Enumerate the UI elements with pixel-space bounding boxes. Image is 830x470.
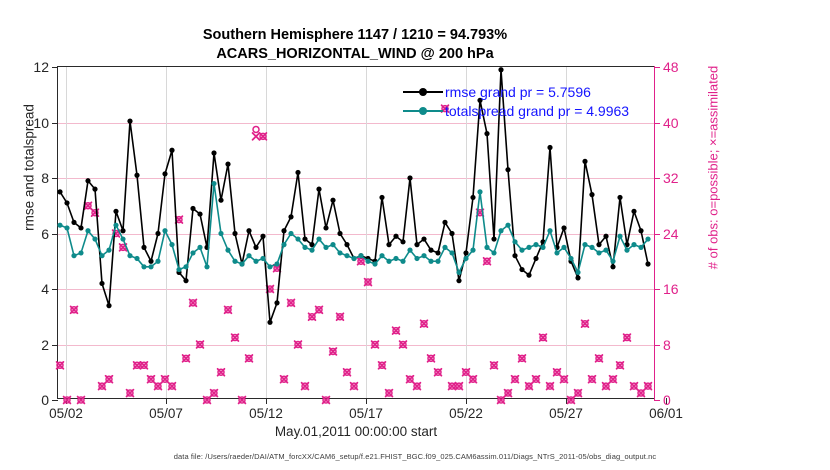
data-point <box>260 256 265 261</box>
y-tick-label-left: 6 <box>41 226 49 242</box>
data-point <box>519 267 524 272</box>
data-point <box>330 198 335 203</box>
data-point <box>78 250 83 255</box>
data-point <box>400 259 405 264</box>
data-point <box>547 228 552 233</box>
data-point <box>470 248 475 253</box>
data-point <box>162 228 167 233</box>
data-point <box>253 245 258 250</box>
data-point <box>134 256 139 261</box>
data-point <box>477 189 482 194</box>
data-point <box>309 248 314 253</box>
data-point <box>393 234 398 239</box>
data-point <box>414 256 419 261</box>
data-point <box>71 220 76 225</box>
data-point <box>78 225 83 230</box>
legend: rmse grand pr = 5.7596 totalspread grand… <box>399 79 651 123</box>
data-point <box>540 245 545 250</box>
chart-title: Southern Hemisphere 1147 / 1210 = 94.793… <box>0 26 710 64</box>
data-point <box>498 228 503 233</box>
data-point <box>484 245 489 250</box>
x-tick-label: 05/27 <box>549 406 583 421</box>
data-point <box>197 245 202 250</box>
data-point <box>449 231 454 236</box>
data-point <box>505 223 510 228</box>
data-point <box>113 223 118 228</box>
data-point <box>575 270 580 275</box>
data-point <box>442 220 447 225</box>
obs-possible-marker <box>253 126 259 132</box>
data-point <box>92 236 97 241</box>
data-point <box>113 209 118 214</box>
data-point <box>85 228 90 233</box>
data-point <box>379 253 384 258</box>
data-point <box>435 259 440 264</box>
data-point <box>225 162 230 167</box>
data-point <box>631 209 636 214</box>
data-point <box>120 228 125 233</box>
x-tick <box>666 398 667 404</box>
data-point <box>344 242 349 247</box>
data-point <box>295 236 300 241</box>
data-point <box>533 242 538 247</box>
data-point <box>561 245 566 250</box>
data-point <box>295 170 300 175</box>
data-point <box>554 250 559 255</box>
data-point <box>99 281 104 286</box>
data-point <box>393 256 398 261</box>
data-point <box>596 250 601 255</box>
data-point <box>526 245 531 250</box>
data-point <box>365 259 370 264</box>
data-point <box>372 261 377 266</box>
data-point <box>127 253 132 258</box>
data-point <box>603 234 608 239</box>
legend-item-rmse: rmse grand pr = 5.7596 <box>403 82 647 101</box>
x-axis-label: May.01,2011 00:00:00 start <box>57 424 655 439</box>
data-point <box>491 236 496 241</box>
data-point <box>204 264 209 269</box>
data-point <box>274 300 279 305</box>
data-point <box>414 242 419 247</box>
data-point <box>99 253 104 258</box>
data-point <box>344 253 349 258</box>
data-point <box>197 211 202 216</box>
y-tick-label-left: 4 <box>41 281 49 297</box>
data-point <box>246 228 251 233</box>
obs-assimilated-marker <box>253 133 260 140</box>
data-point <box>232 259 237 264</box>
data-point <box>239 261 244 266</box>
data-point <box>491 250 496 255</box>
data-point <box>106 248 111 253</box>
data-point <box>155 259 160 264</box>
data-point <box>190 250 195 255</box>
title-line-1: Southern Hemisphere 1147 / 1210 = 94.793… <box>0 26 710 45</box>
x-tick-label: 05/02 <box>49 406 83 421</box>
data-point <box>589 192 594 197</box>
data-point <box>71 253 76 258</box>
title-line-2: ACARS_HORIZONTAL_WIND @ 200 hPa <box>0 45 710 64</box>
data-point <box>288 231 293 236</box>
obs-markers <box>57 105 652 403</box>
data-point <box>120 236 125 241</box>
data-point <box>141 245 146 250</box>
data-point <box>92 187 97 192</box>
data-point <box>589 245 594 250</box>
x-tick-label: 05/17 <box>349 406 383 421</box>
data-point <box>421 253 426 258</box>
data-point <box>456 278 461 283</box>
data-point <box>246 253 251 258</box>
data-point <box>85 178 90 183</box>
data-point <box>64 200 69 205</box>
data-point <box>582 159 587 164</box>
data-point <box>225 248 230 253</box>
data-point <box>484 131 489 136</box>
x-tick-label: 05/12 <box>249 406 283 421</box>
data-point <box>421 236 426 241</box>
data-file-footer: data file: /Users/raeder/DAI/ATM_forcXX/… <box>0 452 830 461</box>
data-point <box>169 148 174 153</box>
data-point <box>260 234 265 239</box>
data-point <box>183 278 188 283</box>
y-axis-label-right: # of obs: o=possible; ×=assimilated <box>706 43 721 293</box>
data-point <box>148 264 153 269</box>
data-point <box>386 259 391 264</box>
data-point <box>638 228 643 233</box>
data-point <box>456 270 461 275</box>
data-point <box>281 228 286 233</box>
data-point <box>211 181 216 186</box>
data-point <box>134 173 139 178</box>
x-tick-label: 06/01 <box>649 406 683 421</box>
data-point <box>519 248 524 253</box>
data-point <box>498 67 503 72</box>
data-point <box>218 231 223 236</box>
data-point <box>253 259 258 264</box>
data-point <box>645 236 650 241</box>
data-point <box>379 195 384 200</box>
data-point <box>533 256 538 261</box>
data-point <box>183 264 188 269</box>
data-point <box>561 225 566 230</box>
data-point <box>610 264 615 269</box>
y-axis-label-left: rmse and totalspread <box>22 43 37 293</box>
x-tick-label: 05/07 <box>149 406 183 421</box>
data-point <box>435 250 440 255</box>
data-point <box>470 195 475 200</box>
data-point <box>645 261 650 266</box>
data-point <box>428 259 433 264</box>
data-point <box>148 259 153 264</box>
data-point <box>176 267 181 272</box>
data-point <box>57 223 62 228</box>
y-tick-label-right: 8 <box>663 337 671 353</box>
data-point <box>526 273 531 278</box>
legend-marker-rmse <box>403 86 443 98</box>
data-point <box>218 198 223 203</box>
data-point <box>463 250 468 255</box>
data-point <box>442 245 447 250</box>
data-point <box>624 248 629 253</box>
data-point <box>330 242 335 247</box>
data-point <box>512 239 517 244</box>
data-point <box>449 250 454 255</box>
data-point <box>400 239 405 244</box>
legend-label-totalspread: totalspread grand pr = 4.9963 <box>445 103 629 119</box>
x-tick-label: 05/22 <box>449 406 483 421</box>
y-tick-label-left: 0 <box>41 392 49 408</box>
plot-area: 02468101208162432404805/0205/0705/1205/1… <box>57 66 655 399</box>
y-tick-label-left: 8 <box>41 170 49 186</box>
data-point <box>232 231 237 236</box>
data-point <box>64 225 69 230</box>
data-point <box>267 264 272 269</box>
data-point <box>316 187 321 192</box>
data-point <box>316 236 321 241</box>
data-point <box>603 248 608 253</box>
y-tick-label-right: 16 <box>663 281 679 297</box>
data-point <box>568 256 573 261</box>
legend-label-rmse: rmse grand pr = 5.7596 <box>445 84 591 100</box>
data-point <box>169 242 174 247</box>
y-tick-label-right: 48 <box>663 59 679 75</box>
y-tick-label-left: 12 <box>33 59 49 75</box>
data-point <box>638 245 643 250</box>
data-point <box>302 236 307 241</box>
data-point <box>274 261 279 266</box>
data-point <box>358 253 363 258</box>
data-point <box>127 119 132 124</box>
data-point <box>162 171 167 176</box>
data-point <box>337 231 342 236</box>
y-tick-label-left: 2 <box>41 337 49 353</box>
data-point <box>141 264 146 269</box>
data-point <box>337 250 342 255</box>
data-point <box>288 214 293 219</box>
data-point <box>547 145 552 150</box>
legend-item-totalspread: totalspread grand pr = 4.9963 <box>403 101 647 120</box>
data-point <box>190 206 195 211</box>
data-point <box>617 195 622 200</box>
data-point <box>407 248 412 253</box>
data-point <box>57 189 62 194</box>
data-point <box>211 150 216 155</box>
data-point <box>155 231 160 236</box>
data-point <box>631 242 636 247</box>
data-point <box>463 256 468 261</box>
y-tick-label-right: 24 <box>663 226 679 242</box>
data-point <box>596 242 601 247</box>
y-tick-label-right: 32 <box>663 170 679 186</box>
data-point <box>386 242 391 247</box>
y-tick-left <box>52 400 58 401</box>
y-tick-label-left: 10 <box>33 115 49 131</box>
data-point <box>512 253 517 258</box>
data-point <box>351 256 356 261</box>
data-point <box>610 259 615 264</box>
y-tick-label-right: 40 <box>663 115 679 131</box>
data-point <box>407 175 412 180</box>
data-point <box>302 245 307 250</box>
data-point <box>281 242 286 247</box>
data-point <box>428 248 433 253</box>
data-point <box>617 234 622 239</box>
data-point <box>106 303 111 308</box>
data-point <box>267 320 272 325</box>
data-point <box>575 275 580 280</box>
data-point <box>323 245 328 250</box>
data-point <box>323 225 328 230</box>
data-point <box>582 242 587 247</box>
data-point <box>505 167 510 172</box>
legend-marker-totalspread <box>403 105 443 117</box>
